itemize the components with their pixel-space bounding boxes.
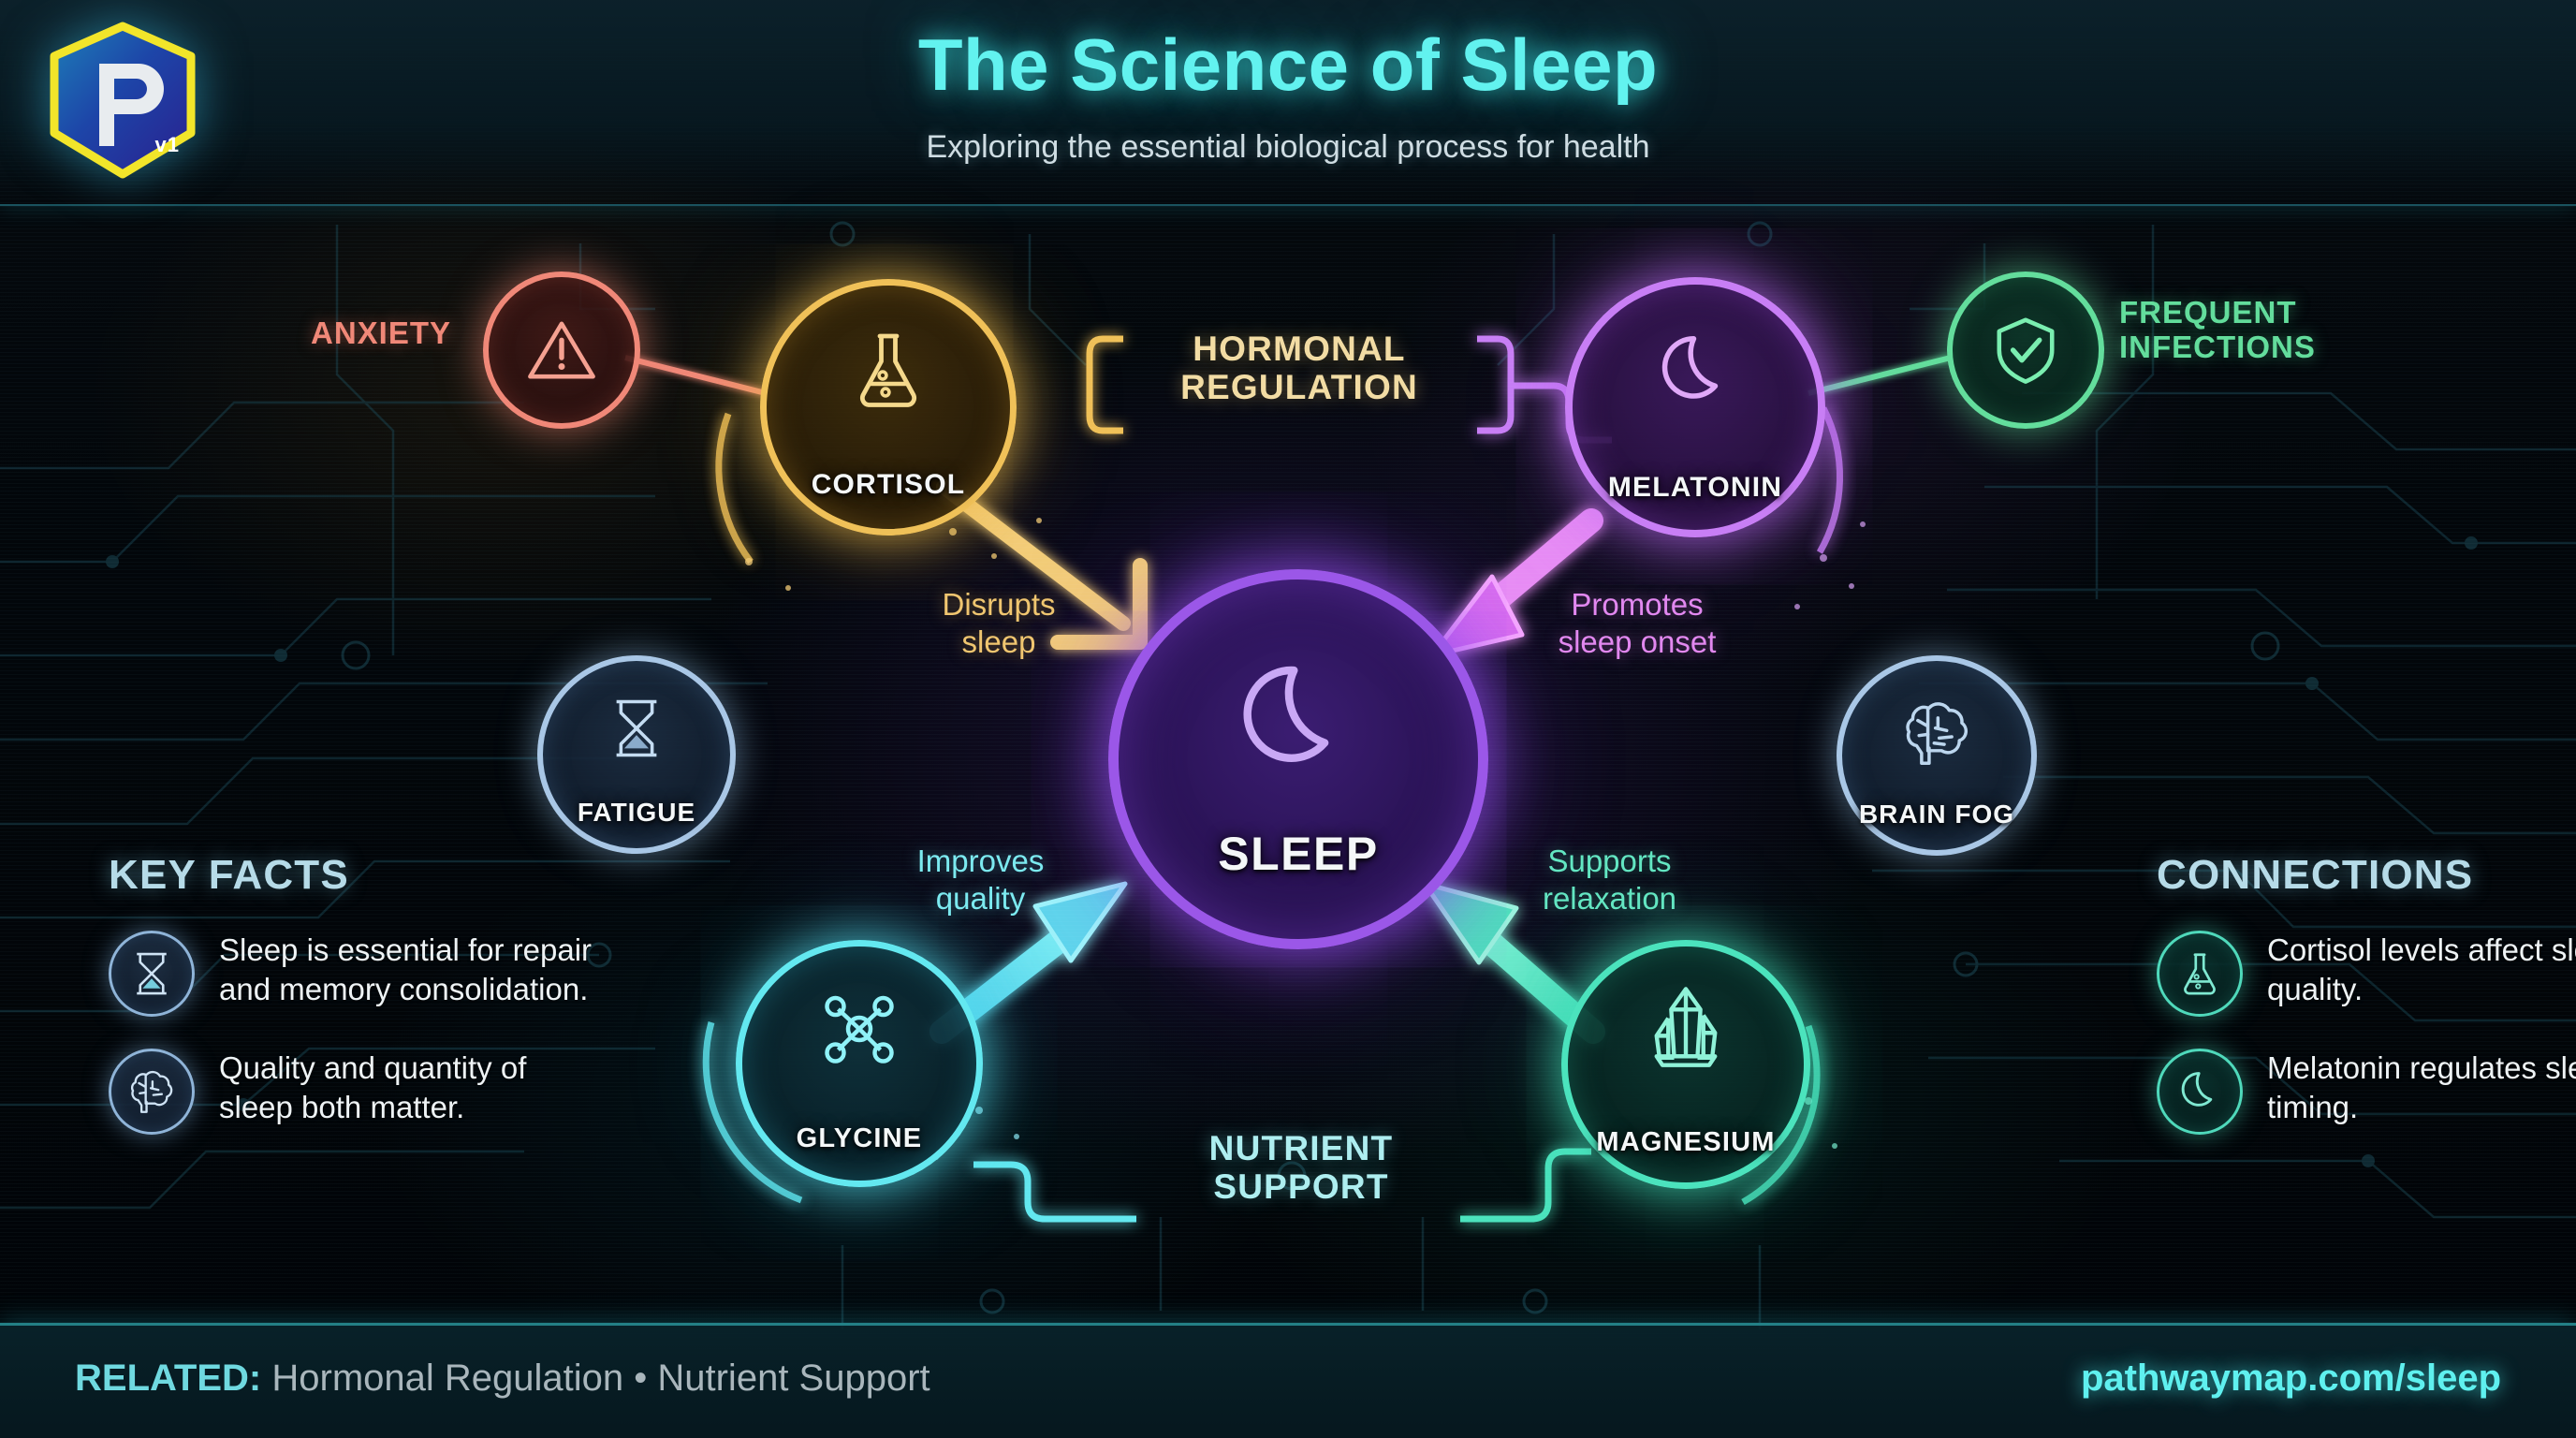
node-cortisol-label: CORTISOL [812, 469, 966, 501]
footer-related: RELATED: Hormonal Regulation • Nutrient … [75, 1357, 930, 1400]
header-bar: v1 The Science of Sleep Exploring the es… [0, 0, 2576, 206]
label-anxiety: ANXIETY [311, 316, 451, 351]
node-melatonin-label: MELATONIN [1608, 472, 1782, 504]
key-facts-heading: KEY FACTS [109, 852, 614, 899]
node-magnesium[interactable]: MAGNESIUM [1561, 940, 1810, 1189]
edge-label-improves-quality: Improves quality [880, 843, 1081, 917]
edge-label-disrupts-sleep: Disrupts sleep [900, 586, 1097, 660]
brain-icon [124, 1064, 179, 1119]
brain-icon-wrapper [109, 1049, 195, 1135]
connections-panel: CONNECTIONS Cortisol levels affect sleep… [2157, 852, 2576, 1135]
edge-label-promotes-sleep-onset: Promotes sleep onset [1520, 586, 1754, 660]
connections-item-text: Melatonin regulates sleep timing. [2267, 1049, 2576, 1127]
edge-anxiety-cortisol [625, 358, 766, 393]
footer-related-items: Hormonal Regulation • Nutrient Support [271, 1357, 929, 1399]
page-subtitle: Exploring the essential biological proce… [0, 129, 2576, 166]
crescent-moon-icon [1228, 651, 1368, 791]
node-anxiety[interactable] [483, 271, 640, 429]
bracket-nutrient-right [1460, 1152, 1591, 1219]
node-cortisol[interactable]: CORTISOL [760, 279, 1017, 536]
node-brainfog-label: BRAIN FOG [1859, 800, 2014, 829]
edge-infections-melatonin [1808, 358, 1951, 393]
key-facts-item-text: Sleep is essential for repair and memory… [219, 931, 593, 1009]
flask-icon [2174, 948, 2225, 999]
hourglass-icon [125, 947, 178, 1000]
bracket-nutrient-left [973, 1165, 1136, 1219]
page-title: The Science of Sleep [0, 22, 2576, 108]
node-brainfog[interactable]: BRAIN FOG [1837, 655, 2037, 856]
hourglass-icon-wrapper [109, 931, 195, 1017]
crescent-moon-icon [2174, 1066, 2225, 1117]
node-sleep[interactable]: SLEEP [1108, 569, 1488, 949]
bracket-hormonal-left [1090, 339, 1123, 431]
warning-triangle-icon [521, 310, 602, 390]
node-fatigue[interactable]: FATIGUE [537, 655, 736, 854]
connections-item-text: Cortisol levels affect sleep quality. [2267, 931, 2576, 1009]
node-magnesium-label: MAGNESIUM [1596, 1127, 1775, 1158]
node-fatigue-label: FATIGUE [578, 798, 695, 828]
crescent-moon-icon [1649, 326, 1741, 418]
node-glycine[interactable]: GLYCINE [736, 940, 983, 1187]
footer-bar: RELATED: Hormonal Regulation • Nutrient … [0, 1323, 2576, 1438]
node-sleep-label: SLEEP [1218, 827, 1378, 881]
key-facts-item: Sleep is essential for repair and memory… [109, 931, 614, 1017]
crescent-moon-icon-wrapper [2157, 1049, 2243, 1135]
group-label-hormonal-regulation: HORMONAL REGULATION [1159, 330, 1440, 407]
footer-related-label: RELATED: [75, 1357, 261, 1399]
molecule-icon [814, 984, 904, 1074]
node-frequent-infections[interactable] [1947, 271, 2104, 429]
node-melatonin[interactable]: MELATONIN [1565, 277, 1825, 537]
key-facts-item-text: Quality and quantity of sleep both matte… [219, 1049, 593, 1127]
node-glycine-label: GLYCINE [797, 1123, 923, 1154]
brain-icon [1896, 693, 1977, 773]
label-frequent-infections: FREQUENT INFECTIONS [2119, 296, 2316, 365]
key-facts-item: Quality and quantity of sleep both matte… [109, 1049, 614, 1135]
flask-icon [843, 325, 933, 415]
connections-heading: CONNECTIONS [2157, 852, 2576, 899]
connections-item: Melatonin regulates sleep timing. [2157, 1049, 2576, 1135]
key-facts-panel: KEY FACTS Sleep is essential for repair … [109, 852, 614, 1135]
group-label-nutrient-support: NUTRIENT SUPPORT [1161, 1129, 1442, 1207]
footer-url[interactable]: pathwaymap.com/sleep [2081, 1357, 2501, 1400]
crystal-icon [1639, 980, 1733, 1074]
flask-icon-wrapper [2157, 931, 2243, 1017]
bracket-hormonal-right [1477, 339, 1511, 431]
shield-check-icon [1985, 310, 2066, 390]
connections-item: Cortisol levels affect sleep quality. [2157, 931, 2576, 1017]
edge-label-supports-relaxation: Supports relaxation [1509, 843, 1710, 917]
infographic-canvas: v1 The Science of Sleep Exploring the es… [0, 0, 2576, 1438]
hourglass-icon [601, 693, 672, 764]
